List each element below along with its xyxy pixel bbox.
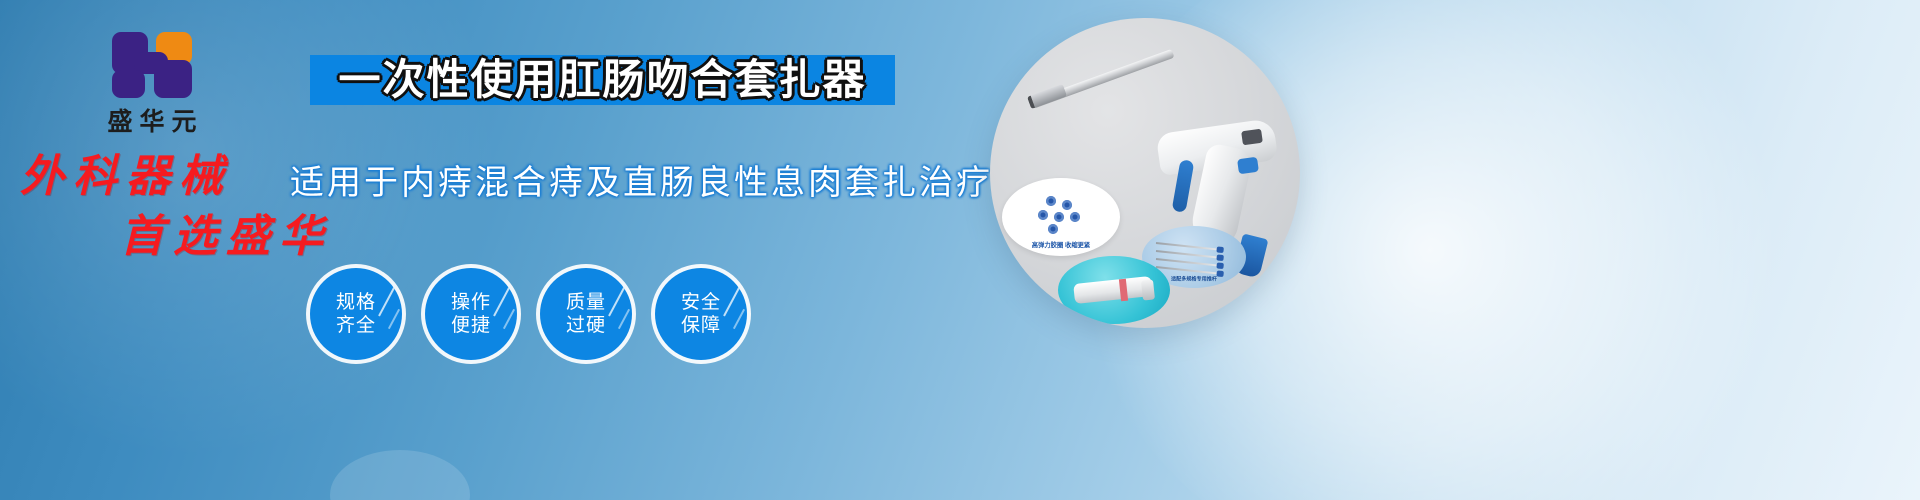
feature-4-line-2: 保障 [681,314,721,337]
inset-ligation-head [1058,256,1170,324]
slash-decor-icon [378,286,396,317]
calligraphy-line-2: 首选盛华 [120,210,332,264]
feature-3-line-2: 过硬 [566,314,606,337]
slash-decor-icon [608,286,626,317]
feature-circles: 规格 齐全 操作 便捷 质量 过硬 安全 保障 [310,268,870,368]
slash-decor-icon [723,286,741,317]
slash-decor-small-icon [503,309,515,329]
feature-2-line-2: 便捷 [451,314,491,337]
slash-decor-small-icon [618,309,630,329]
feature-circle-3[interactable]: 质量 过硬 [540,268,632,360]
feature-circle-1[interactable]: 规格 齐全 [310,268,402,360]
device-blue-button [1237,157,1259,175]
subtitle: 适用于内痔混合痔及直肠良性息肉套扎治疗 [290,155,910,204]
inset-elastic-rings: 高弹力胶圈 收缩更紧 [1002,178,1120,256]
head-cap [1141,279,1155,300]
promo-banner: 盛华元 外科器械 首选盛华 一次性使用肛肠吻合套扎器 适用于内痔混合痔及直肠良性… [0,0,1920,500]
head-tube [1073,276,1153,304]
device-tip [1027,84,1067,109]
shy-logo-blocks-icon [104,26,200,98]
feature-3-line-1: 质量 [566,291,606,314]
slash-decor-small-icon [733,309,745,329]
inset-rings-caption: 高弹力胶圈 收缩更紧 [1008,241,1114,250]
feature-circle-2[interactable]: 操作 便捷 [425,268,517,360]
slash-decor-small-icon [388,309,400,329]
page-title: 一次性使用肛肠吻合套扎器 [310,50,895,110]
feature-2-line-1: 操作 [451,291,491,314]
bottom-watermark [330,450,470,500]
product-photo: 高弹力胶圈 收缩更紧 适配多规格专用推杆 [990,18,1300,328]
slash-decor-icon [493,286,511,317]
feature-circle-4[interactable]: 安全 保障 [655,268,747,360]
calligraphy-slogan: 外科器械 首选盛华 [20,150,332,264]
brand-logo[interactable]: 盛华元 [62,26,242,138]
calligraphy-line-1: 外科器械 [20,151,232,202]
brand-name: 盛华元 [62,102,242,138]
device-control-pad-icon [1241,129,1263,146]
feature-1-line-1: 规格 [336,291,376,314]
feature-1-line-2: 齐全 [336,314,376,337]
feature-4-line-1: 安全 [681,291,721,314]
